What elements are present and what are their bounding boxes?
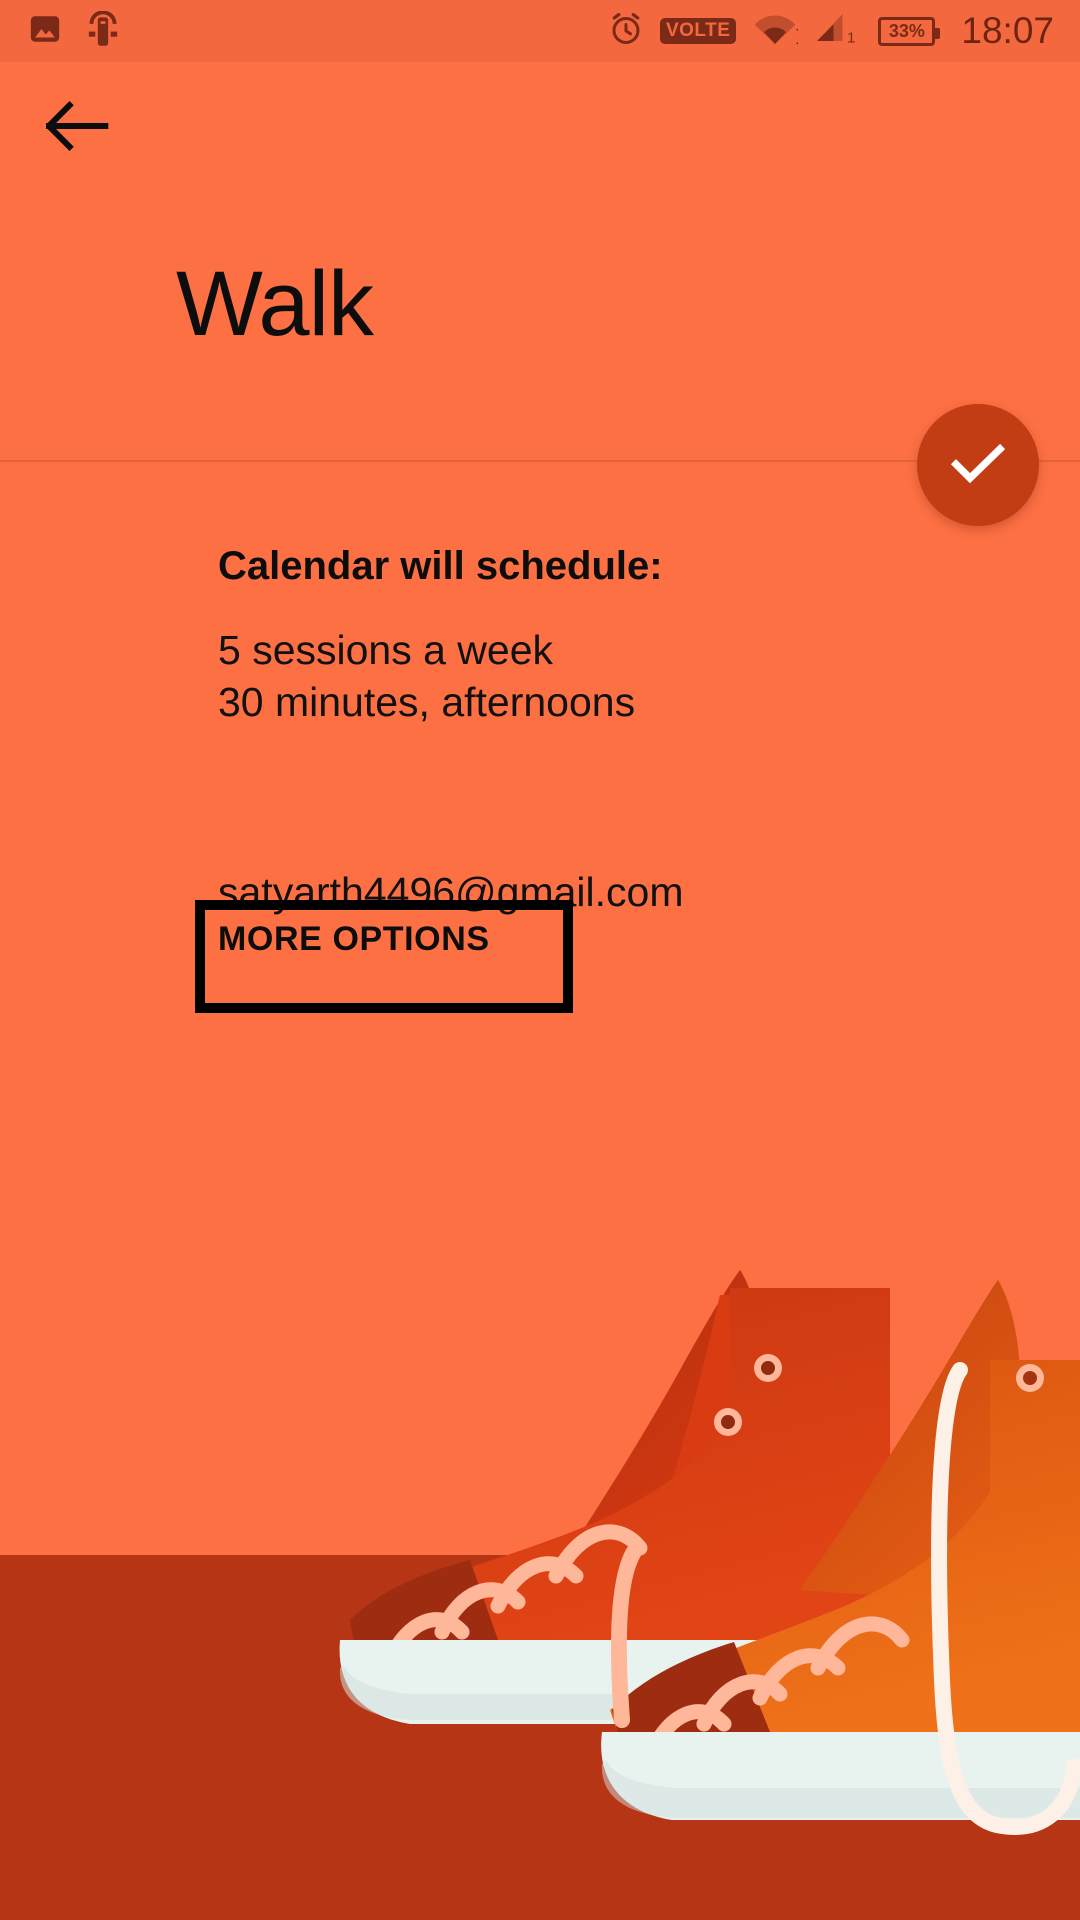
page-title: Walk [176,258,373,350]
schedule-line-duration: 30 minutes, afternoons [218,676,663,728]
battery-percent-label: 33% [889,22,925,40]
wifi-icon [752,11,798,52]
more-options-button[interactable]: MORE OPTIONS [218,922,490,956]
account-email[interactable]: satyarth4496@gmail.com [218,872,684,913]
sneakers-illustration [330,1120,1080,1920]
alarm-icon [608,11,644,52]
arrow-left-icon [46,100,110,157]
screen-cast-icon [86,11,120,52]
app-screen: VOLTE 1 33% 18:07 [0,0,1080,1920]
back-button[interactable] [38,88,118,168]
schedule-summary: Calendar will schedule: 5 sessions a wee… [218,542,663,729]
status-bar: VOLTE 1 33% 18:07 [0,0,1080,62]
volte-badge: VOLTE [660,18,736,44]
status-bar-left-icons [28,11,120,52]
photo-icon [28,12,62,51]
status-bar-right-icons: VOLTE 1 33% 18:07 [608,10,1054,52]
status-bar-clock: 18:07 [961,10,1054,52]
battery-icon: 33% [878,17,935,46]
schedule-line-frequency: 5 sessions a week [218,624,663,676]
svg-text:1: 1 [847,29,855,46]
schedule-heading: Calendar will schedule: [218,542,663,590]
signal-icon: 1 [814,11,862,52]
check-icon [948,439,1008,492]
confirm-fab-button[interactable] [917,404,1039,526]
